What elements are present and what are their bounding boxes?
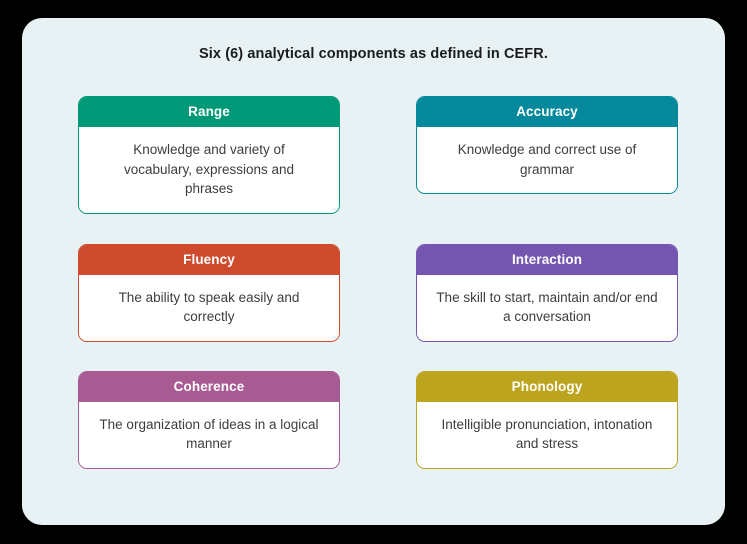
card-description-phonology: Intelligible pronunciation, intonation a…	[417, 402, 677, 468]
component-card-accuracy[interactable]: Accuracy Knowledge and correct use of gr…	[416, 96, 678, 194]
component-card-fluency[interactable]: Fluency The ability to speak easily and …	[78, 244, 340, 342]
card-header-coherence: Coherence	[79, 372, 339, 402]
component-card-grid: Range Knowledge and variety of vocabular…	[78, 96, 678, 469]
content-panel: Six (6) analytical components as defined…	[22, 18, 725, 525]
card-header-accuracy: Accuracy	[417, 97, 677, 127]
card-description-interaction: The skill to start, maintain and/or end …	[417, 275, 677, 341]
card-row: Fluency The ability to speak easily and …	[78, 244, 678, 342]
component-card-range[interactable]: Range Knowledge and variety of vocabular…	[78, 96, 340, 214]
component-card-interaction[interactable]: Interaction The skill to start, maintain…	[416, 244, 678, 342]
card-row: Coherence The organization of ideas in a…	[78, 371, 678, 469]
card-description-coherence: The organization of ideas in a logical m…	[79, 402, 339, 468]
card-description-accuracy: Knowledge and correct use of grammar	[417, 127, 677, 193]
card-row: Range Knowledge and variety of vocabular…	[78, 96, 678, 214]
card-header-range: Range	[79, 97, 339, 127]
component-card-phonology[interactable]: Phonology Intelligible pronunciation, in…	[416, 371, 678, 469]
card-description-range: Knowledge and variety of vocabulary, exp…	[79, 127, 339, 213]
card-header-fluency: Fluency	[79, 245, 339, 275]
card-header-interaction: Interaction	[417, 245, 677, 275]
page-title: Six (6) analytical components as defined…	[22, 46, 725, 62]
card-description-fluency: The ability to speak easily and correctl…	[79, 275, 339, 341]
device-frame: Six (6) analytical components as defined…	[0, 0, 747, 544]
card-header-phonology: Phonology	[417, 372, 677, 402]
component-card-coherence[interactable]: Coherence The organization of ideas in a…	[78, 371, 340, 469]
